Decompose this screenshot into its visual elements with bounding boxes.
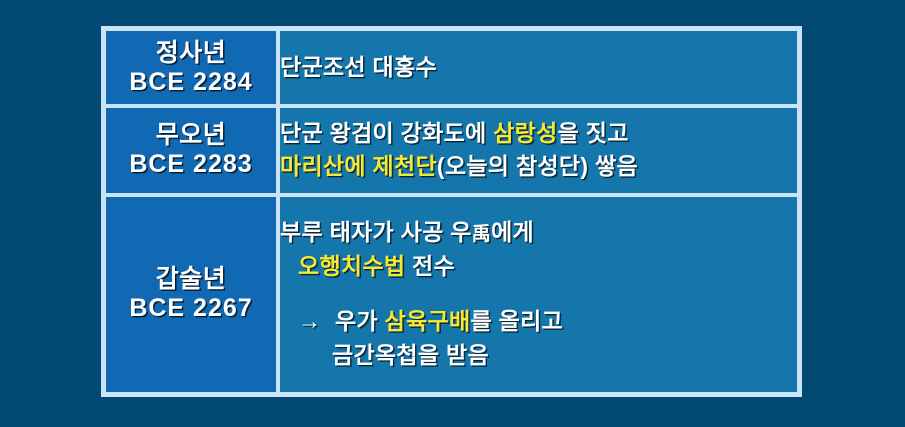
event-text: 금간옥첩을 받음 — [332, 342, 489, 368]
event-line: 오행치수법 전수 — [280, 250, 797, 284]
event-line: 부루 태자가 사공 우禹에게 — [280, 216, 797, 250]
table-row: 갑술년BCE 2267부루 태자가 사공 우禹에게오행치수법 전수→ 우가 삼육… — [104, 195, 799, 394]
event-cell: 부루 태자가 사공 우禹에게오행치수법 전수→ 우가 삼육구배를 올리고금간옥첩… — [278, 195, 799, 394]
highlighted-term: 오행치수법 — [298, 253, 405, 279]
chronology-table-body: 정사년BCE 2284단군조선 대홍수무오년BCE 2283단군 왕검이 강화도… — [104, 29, 799, 394]
era-year: BCE 2267 — [106, 294, 276, 323]
event-line: 단군조선 대홍수 — [280, 51, 797, 85]
event-line: 마리산에 제천단(오늘의 참성단) 쌓음 — [280, 150, 797, 184]
era-year: BCE 2284 — [106, 68, 276, 97]
era-cell: 정사년BCE 2284 — [104, 29, 278, 106]
event-text: 전수 — [405, 253, 455, 279]
event-text: 우가 — [328, 308, 384, 334]
event-text: 를 올리고 — [470, 308, 563, 334]
right-arrow-icon: → — [298, 308, 328, 334]
event-text: 부루 태자가 사공 우 — [280, 219, 472, 245]
event-text: 단군조선 대홍수 — [280, 54, 437, 80]
era-name: 갑술년 — [106, 265, 276, 294]
era-year: BCE 2283 — [106, 150, 276, 179]
event-text: 단군 왕검이 강화도에 — [280, 120, 493, 146]
highlighted-term: 삼랑성 — [493, 120, 557, 146]
table-row: 정사년BCE 2284단군조선 대홍수 — [104, 29, 799, 106]
event-line: 단군 왕검이 강화도에 삼랑성을 짓고 — [280, 117, 797, 151]
hanja-gloss: 禹 — [472, 224, 491, 245]
era-cell: 무오년BCE 2283 — [104, 106, 278, 195]
slide-canvas: 정사년BCE 2284단군조선 대홍수무오년BCE 2283단군 왕검이 강화도… — [0, 0, 905, 427]
event-text: 을 짓고 — [558, 120, 629, 146]
highlighted-term: 마리산에 제천단 — [280, 153, 437, 179]
event-line: 금간옥첩을 받음 — [280, 339, 797, 373]
event-cell: 단군조선 대홍수 — [278, 29, 799, 106]
era-cell: 갑술년BCE 2267 — [104, 195, 278, 394]
era-name: 무오년 — [106, 121, 276, 150]
event-text: 에게 — [491, 219, 534, 245]
event-text: (오늘의 참성단) 쌓음 — [437, 153, 638, 179]
event-line: → 우가 삼육구배를 올리고 — [280, 305, 797, 339]
table-row: 무오년BCE 2283단군 왕검이 강화도에 삼랑성을 짓고마리산에 제천단(오… — [104, 106, 799, 195]
event-cell: 단군 왕검이 강화도에 삼랑성을 짓고마리산에 제천단(오늘의 참성단) 쌓음 — [278, 106, 799, 195]
highlighted-term: 삼육구배 — [385, 308, 471, 334]
era-name: 정사년 — [106, 39, 276, 68]
chronology-table: 정사년BCE 2284단군조선 대홍수무오년BCE 2283단군 왕검이 강화도… — [101, 26, 802, 397]
